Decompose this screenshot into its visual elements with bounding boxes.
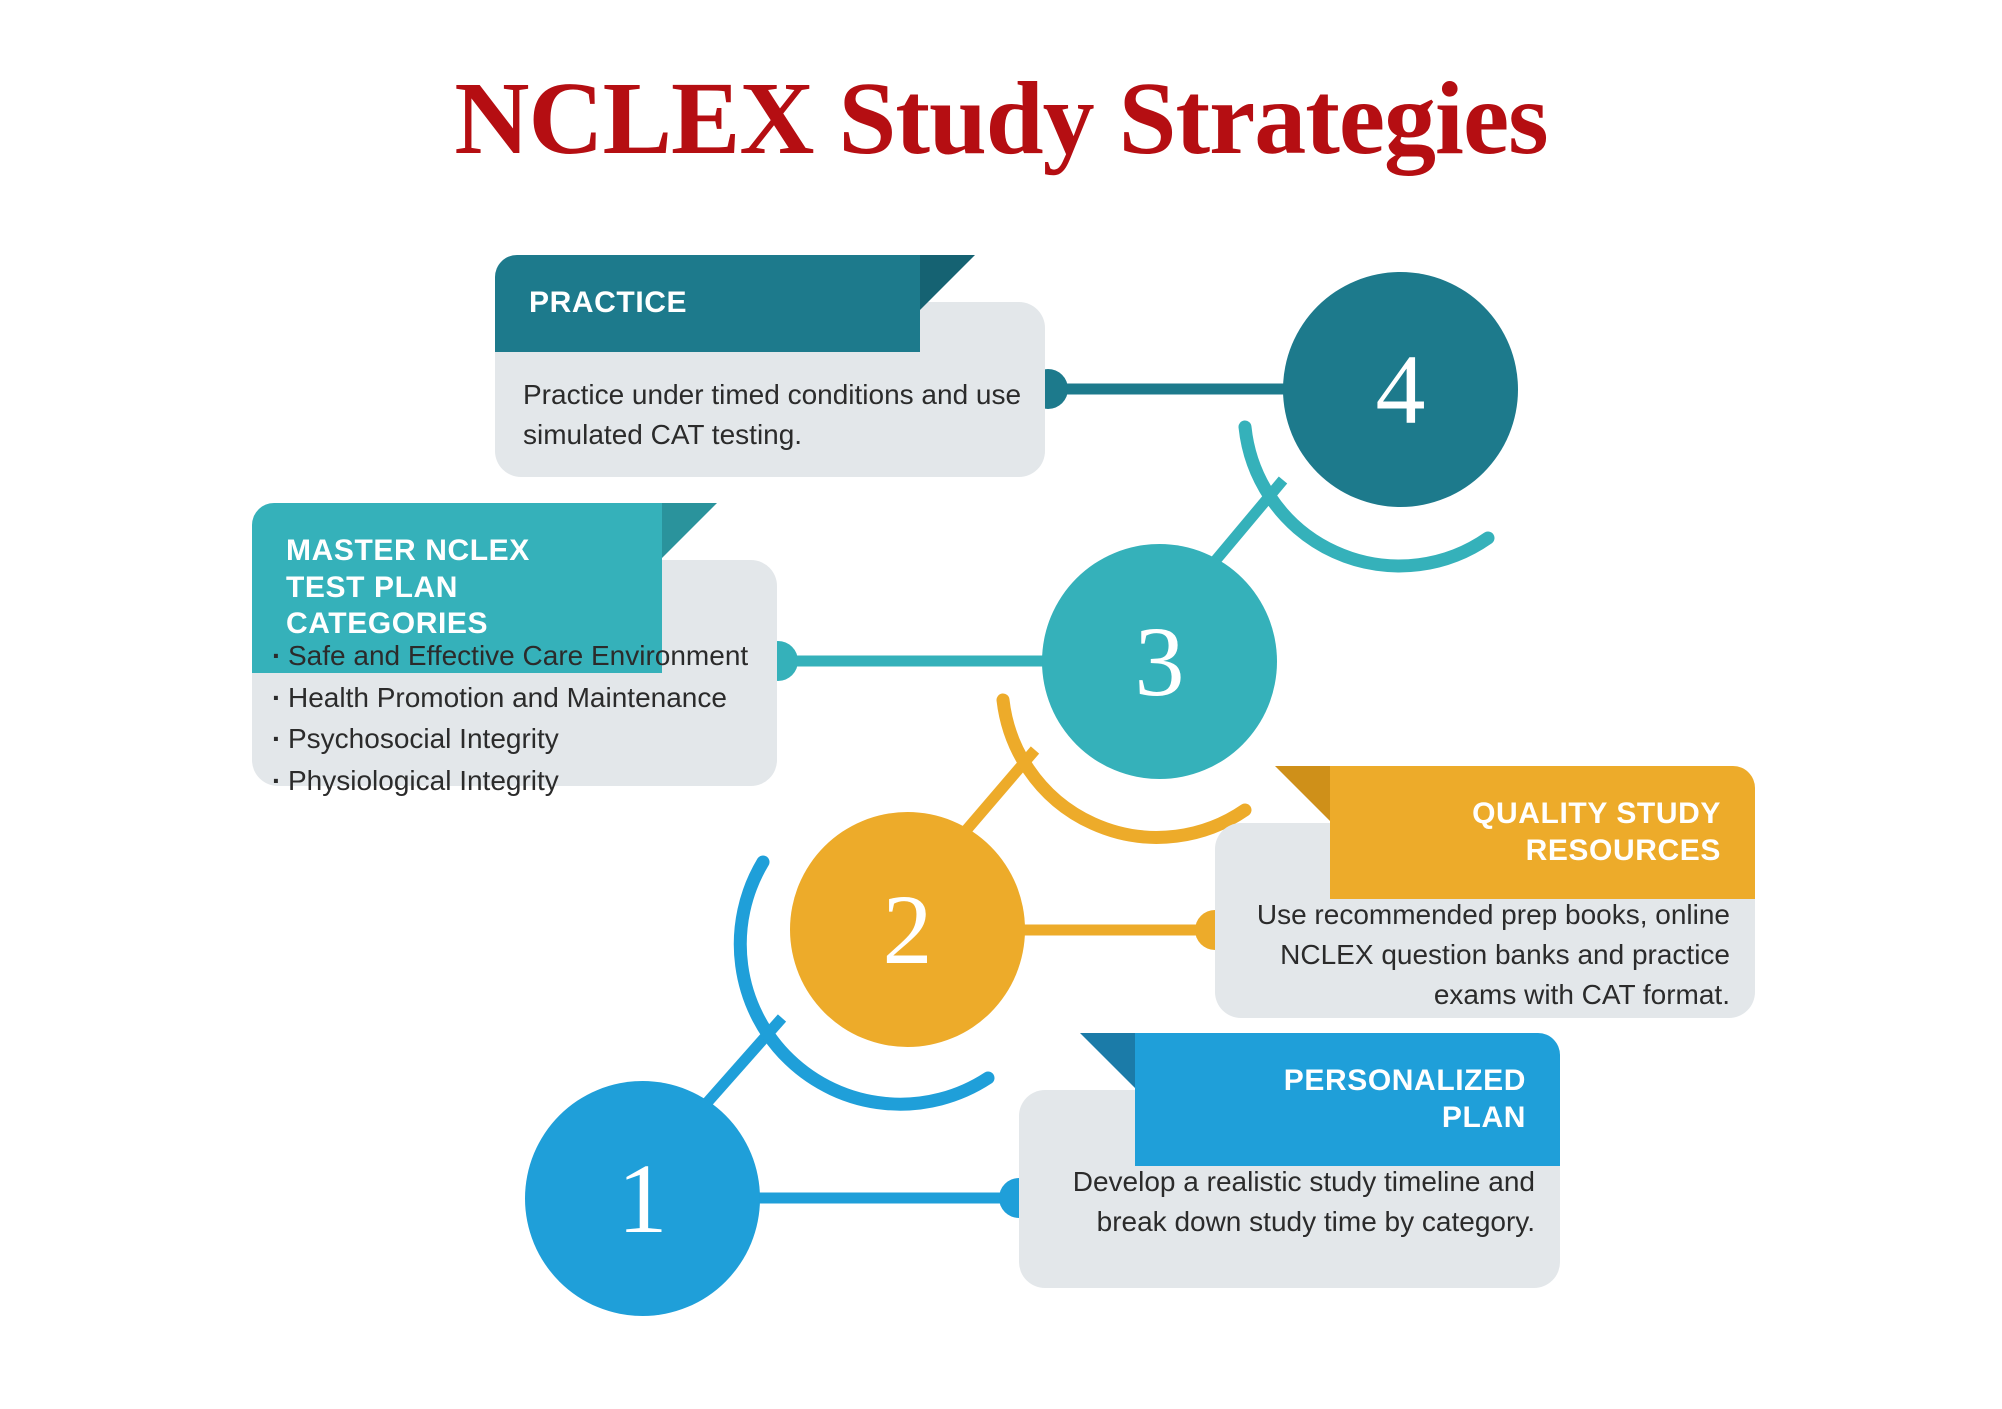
- card-quality-resources-heading-line2: RESOURCES: [1364, 833, 1721, 870]
- card-practice-banner: PRACTICE: [495, 255, 920, 352]
- card-master-nclex-bullet-list: Safe and Effective Care Environment Heal…: [272, 635, 772, 802]
- step-circle-4: 4: [1283, 272, 1518, 507]
- card-personalized-plan-text: Develop a realistic study timeline and b…: [1050, 1162, 1535, 1242]
- card-practice-heading: PRACTICE: [529, 286, 687, 319]
- card-practice-text: Practice under timed conditions and use …: [523, 375, 1023, 455]
- list-item: Health Promotion and Maintenance: [272, 677, 772, 719]
- card-quality-resources-text: Use recommended prep books, online NCLEX…: [1245, 895, 1730, 1014]
- step-circle-2: 2: [790, 812, 1025, 1047]
- step-number-2: 2: [883, 880, 933, 980]
- card-quality-resources-fold-icon: [1275, 766, 1330, 821]
- step-number-4: 4: [1376, 340, 1426, 440]
- card-master-nclex-fold-icon: [662, 503, 717, 558]
- step-number-1: 1: [618, 1149, 668, 1249]
- list-item: Psychosocial Integrity: [272, 718, 772, 760]
- card-practice-fold-icon: [920, 255, 975, 310]
- step-number-3: 3: [1135, 612, 1185, 712]
- list-item: Physiological Integrity: [272, 760, 772, 802]
- card-personalized-plan-fold-icon: [1080, 1033, 1135, 1088]
- card-quality-resources-banner: QUALITY STUDY RESOURCES: [1330, 766, 1755, 899]
- card-master-nclex-heading-line1: MASTER NCLEX: [286, 533, 628, 570]
- list-item: Safe and Effective Care Environment: [272, 635, 772, 677]
- card-personalized-plan-heading-line1: PERSONALIZED: [1169, 1063, 1526, 1100]
- step-circle-1: 1: [525, 1081, 760, 1316]
- infographic-canvas: NCLEX Study Strategies PRACTICE Practice…: [0, 0, 2002, 1409]
- step-circle-3: 3: [1042, 544, 1277, 779]
- card-personalized-plan-heading-line2: PLAN: [1169, 1100, 1526, 1137]
- card-personalized-plan-banner: PERSONALIZED PLAN: [1135, 1033, 1560, 1166]
- card-quality-resources-heading-line1: QUALITY STUDY: [1364, 796, 1721, 833]
- card-master-nclex-heading-line2: TEST PLAN CATEGORIES: [286, 570, 628, 643]
